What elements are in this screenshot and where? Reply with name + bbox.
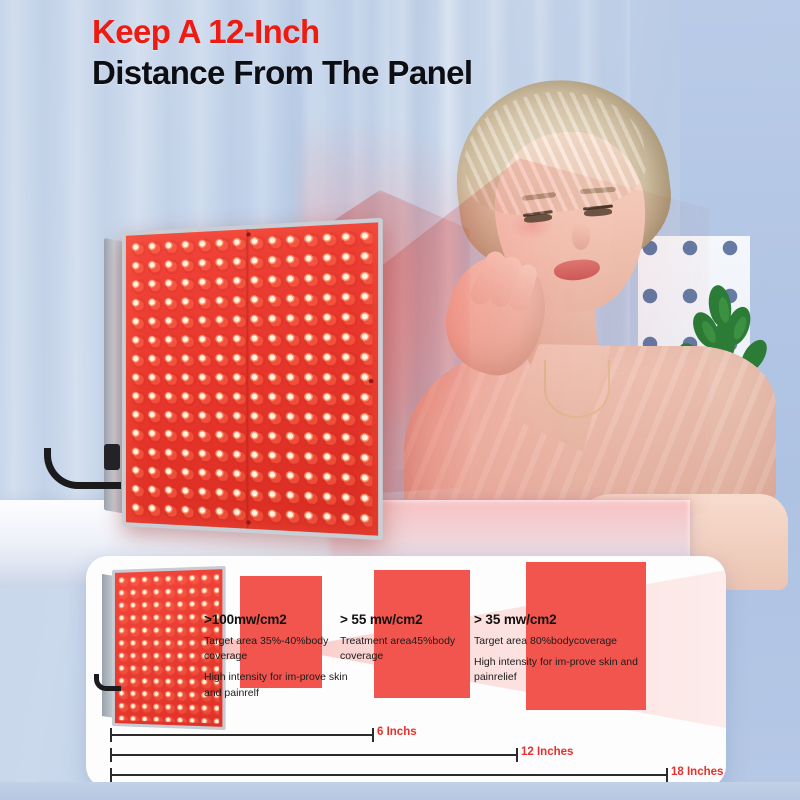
power-plug [104,444,120,470]
dimension-cap-left-3 [110,768,112,782]
intensity-text-3b: High intensity for im-prove skin and pai… [474,655,664,685]
dimension-line-1 [110,734,372,736]
intensity-text-1b: High intensity for im-prove skin and pai… [204,670,354,700]
headline-line-1: Keep A 12-Inch [92,14,612,51]
dimension-cap-left-2 [110,748,112,762]
bottom-strip [0,782,800,800]
dimension-line-2 [110,754,516,756]
intensity-block-1: >100mw/cm2 Target area 35%-40%body cover… [204,612,354,701]
distance-diagram-card: >100mw/cm2 Target area 35%-40%body cover… [86,556,726,788]
dimension-lines: 6 Inchs 12 Inches 18 Inches [86,726,726,788]
dimension-cap-right-1 [372,728,374,742]
intensity-block-2: > 55 mw/cm2 Treatment area45%body covera… [340,612,490,664]
headline: Keep A 12-Inch Distance From The Panel [92,14,612,92]
led-panel-diagram [102,570,218,722]
intensity-text-2a: Treatment area45%body coverage [340,634,490,664]
headline-line-2: Distance From The Panel [92,55,612,92]
intensity-block-3: > 35 mw/cm2 Target area 80%bodycoverage … [474,612,664,686]
diagram-power-cable [94,674,121,691]
intensity-text-3a: Target area 80%bodycoverage [474,634,664,649]
panel-screw-right [369,379,374,383]
product-infographic: Keep A 12-Inch Distance From The Panel >… [0,0,800,800]
led-panel-main [104,232,360,522]
dimension-label-2: 12 Inches [521,746,573,758]
dimension-label-3: 18 Inches [671,766,723,778]
dimension-cap-left-1 [110,728,112,742]
intensity-title-2: > 55 mw/cm2 [340,612,490,627]
intensity-title-1: >100mw/cm2 [204,612,354,627]
dimension-cap-right-2 [516,748,518,762]
dimension-label-1: 6 Inchs [377,726,417,738]
panel-seam [246,229,248,528]
led-array [131,228,373,530]
panel-screw-bottom [246,520,250,524]
intensity-title-3: > 35 mw/cm2 [474,612,664,627]
dimension-cap-right-3 [666,768,668,782]
panel-front-face [122,218,383,541]
intensity-text-1a: Target area 35%-40%body coverage [204,634,354,664]
dimension-line-3 [110,774,666,776]
